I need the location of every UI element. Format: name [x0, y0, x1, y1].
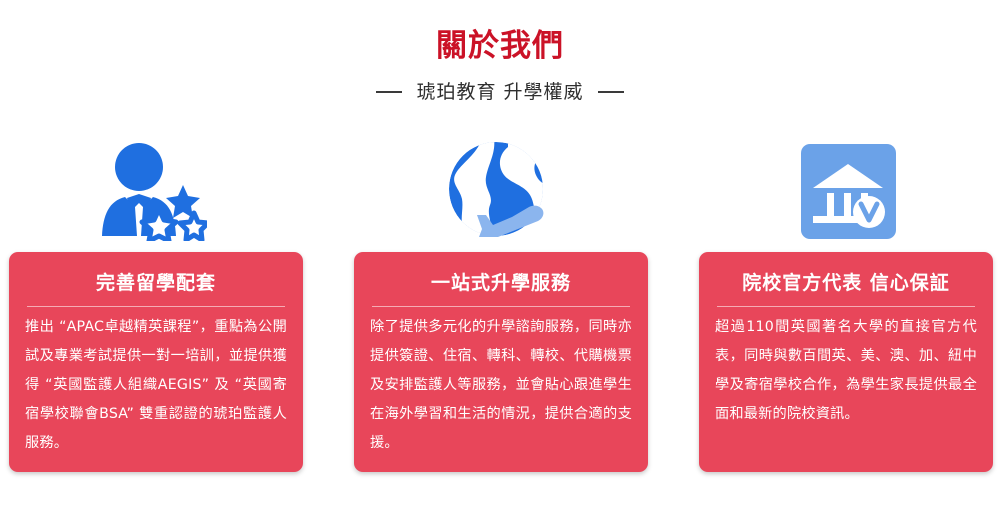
cards-row: 完善留學配套 推出 “APAC卓越精英課程”，重點為公開試及專業考試提供一對一培…: [0, 252, 1000, 477]
subtitle-row: 琥珀教育 升學權威: [0, 80, 1000, 104]
icon-slot-3: [696, 132, 1000, 250]
card-body: 除了提供多元化的升學諮詢服務，同時亦提供簽證、住宿、轉科、轉校、代購機票及安排監…: [370, 313, 632, 458]
card-title: 院校官方代表 信心保証: [715, 269, 977, 297]
consultant-with-stars-icon: [97, 141, 207, 241]
dash-right-icon: [598, 91, 624, 93]
card-body: 推出 “APAC卓越精英課程”，重點為公開試及專業考試提供一對一培訓，並提供獲得…: [25, 313, 287, 458]
card-divider: [27, 306, 285, 307]
section-header: 關於我們 琥珀教育 升學權威: [0, 0, 1000, 104]
icon-slot-2: [348, 132, 652, 250]
card-title: 完善留學配套: [25, 269, 287, 297]
globe-airplane-icon: [446, 141, 554, 241]
icon-slot-1: [0, 132, 304, 250]
card-divider: [717, 306, 975, 307]
section-subtitle: 琥珀教育 升學權威: [416, 80, 583, 104]
card-body: 超過110間英國著名大學的直接官方代表，同時與數百間英、美、澳、加、紐中學及寄宿…: [715, 313, 977, 429]
card-title: 一站式升學服務: [370, 269, 632, 297]
page-title: 關於我們: [0, 0, 1000, 66]
feature-card-2[interactable]: 一站式升學服務 除了提供多元化的升學諮詢服務，同時亦提供簽證、住宿、轉科、轉校、…: [354, 252, 648, 472]
institution-verified-icon: [801, 144, 896, 239]
card-divider: [372, 306, 630, 307]
feature-card-3[interactable]: 院校官方代表 信心保証 超過110間英國著名大學的直接官方代表，同時與數百間英、…: [699, 252, 993, 472]
icons-row: [0, 132, 1000, 250]
dash-left-icon: [376, 91, 402, 93]
about-us-section: 關於我們 琥珀教育 升學權威: [0, 0, 1000, 514]
feature-card-1[interactable]: 完善留學配套 推出 “APAC卓越精英課程”，重點為公開試及專業考試提供一對一培…: [9, 252, 303, 472]
